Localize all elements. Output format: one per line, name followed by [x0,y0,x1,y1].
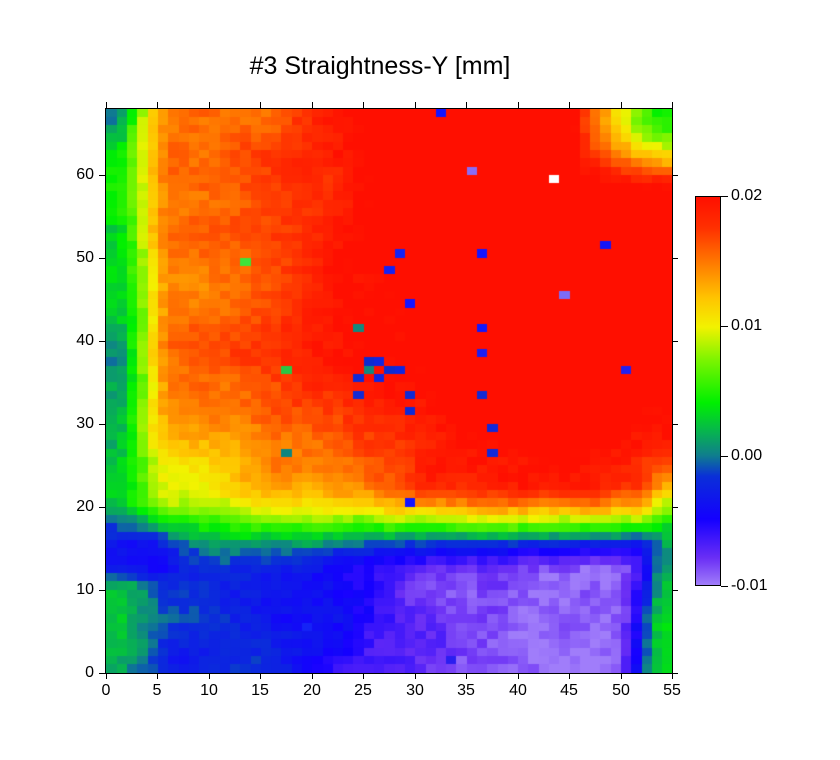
colorbar-tick-label: 0.01 [731,317,762,335]
x-tick-mark [260,673,261,679]
colorbar-tick-mark [721,196,728,197]
y-tick-mark [99,673,105,674]
y-tick-label: 40 [66,332,94,350]
x-tick-mark [106,102,107,108]
x-tick-mark [363,102,364,108]
colorbar-tick-label: 0.00 [731,447,762,465]
x-tick-label: 55 [663,682,681,700]
colorbar: -0.010.000.010.02 [695,196,721,586]
x-tick-mark [312,102,313,108]
colorbar-tick-label: -0.01 [731,577,767,595]
y-tick-mark [99,507,105,508]
chart-root: #3 Straightness-Y [mm] -0.010.000.010.02… [0,0,840,760]
colorbar-tick-mark [721,326,728,327]
x-tick-label: 10 [200,682,218,700]
x-tick-mark [466,102,467,108]
y-tick-mark [672,507,678,508]
y-tick-label: 50 [66,249,94,267]
y-tick-mark [99,258,105,259]
x-tick-mark [209,673,210,679]
x-tick-mark [157,102,158,108]
x-tick-label: 5 [153,682,162,700]
y-tick-mark [99,341,105,342]
x-tick-label: 40 [509,682,527,700]
x-tick-mark [466,673,467,679]
y-tick-label: 20 [66,498,94,516]
x-tick-label: 50 [612,682,630,700]
y-tick-mark [672,424,678,425]
x-tick-mark [518,102,519,108]
colorbar-tick-label: 0.02 [731,187,762,205]
x-tick-mark [363,673,364,679]
x-tick-mark [312,673,313,679]
colorbar-tick-mark [721,586,728,587]
x-tick-mark [569,673,570,679]
x-tick-mark [672,102,673,108]
y-tick-label: 30 [66,415,94,433]
colorbar-tick-mark [721,456,728,457]
x-tick-mark [209,102,210,108]
y-tick-mark [99,175,105,176]
x-tick-label: 15 [251,682,269,700]
x-tick-label: 35 [457,682,475,700]
y-tick-label: 0 [66,664,94,682]
y-tick-mark [672,258,678,259]
x-tick-mark [415,102,416,108]
x-tick-mark [569,102,570,108]
y-tick-mark [99,424,105,425]
x-tick-mark [518,673,519,679]
y-tick-mark [99,590,105,591]
x-tick-mark [260,102,261,108]
x-tick-label: 30 [406,682,424,700]
y-tick-mark [672,590,678,591]
x-tick-label: 25 [354,682,372,700]
x-tick-label: 20 [303,682,321,700]
x-tick-mark [106,673,107,679]
y-tick-mark [672,341,678,342]
y-tick-mark [672,673,678,674]
y-tick-label: 10 [66,581,94,599]
x-tick-mark [157,673,158,679]
colorbar-gradient [695,196,721,586]
y-tick-mark [672,175,678,176]
x-tick-label: 0 [102,682,111,700]
plot-frame [105,108,673,674]
page-title: #3 Straightness-Y [mm] [0,52,760,81]
x-tick-mark [415,673,416,679]
x-tick-label: 45 [560,682,578,700]
x-tick-mark [621,673,622,679]
y-tick-label: 60 [66,166,94,184]
x-tick-mark [621,102,622,108]
